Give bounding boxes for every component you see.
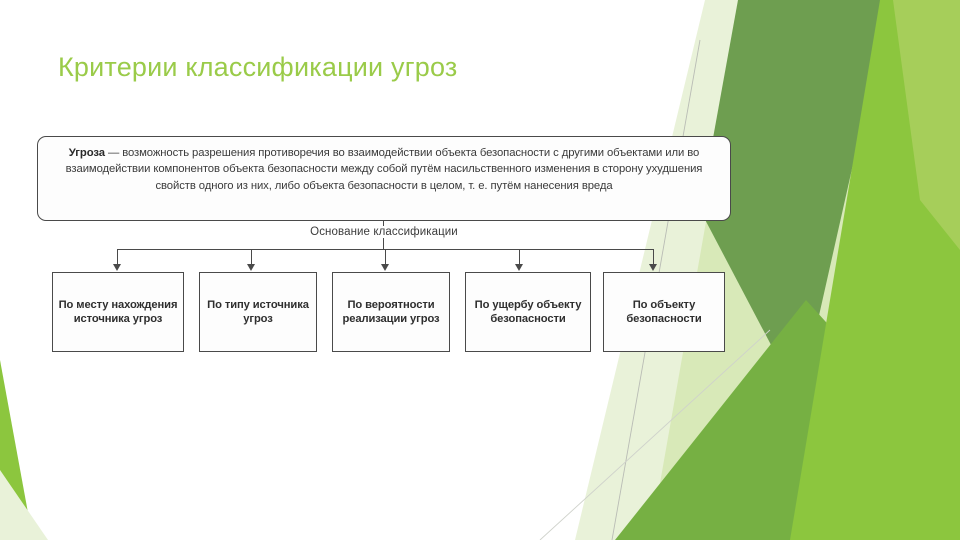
category-label-5: По объекту безопасности bbox=[604, 298, 724, 327]
page-title: Критерии классификации угроз bbox=[58, 52, 658, 83]
arrowhead-4 bbox=[515, 264, 523, 271]
basis-of-classification-label: Основание классификации bbox=[37, 226, 731, 238]
threat-definition-dash: — bbox=[105, 147, 122, 159]
arrowhead-2 bbox=[247, 264, 255, 271]
threat-definition-box: Угроза — возможность разрешения противор… bbox=[37, 136, 731, 221]
category-box-security-object: По объекту безопасности bbox=[603, 272, 725, 352]
threat-definition-text: Угроза — возможность разрешения противор… bbox=[50, 145, 718, 194]
threat-term: Угроза bbox=[69, 147, 105, 159]
category-label-4: По ущербу объекту безопасности bbox=[466, 298, 590, 327]
threat-definition-body: возможность разрешения противоречия во в… bbox=[66, 147, 703, 192]
category-box-location-of-threat-source: По месту нахождения источника угроз bbox=[52, 272, 184, 352]
category-label-3: По вероятности реализации угроз bbox=[333, 298, 449, 327]
category-box-type-of-threat-source: По типу источника угроз bbox=[199, 272, 317, 352]
slide-canvas: Критерии классификации угроз Угроза — во… bbox=[0, 0, 960, 540]
arrowhead-3 bbox=[381, 264, 389, 271]
category-label-2: По типу источника угроз bbox=[200, 298, 316, 327]
basis-of-classification-text: Основание классификации bbox=[307, 226, 461, 238]
category-box-probability-of-realization: По вероятности реализации угроз bbox=[332, 272, 450, 352]
threat-classification-diagram: Угроза — возможность разрешения противор… bbox=[37, 136, 737, 354]
arrowhead-5 bbox=[649, 264, 657, 271]
arrowhead-1 bbox=[113, 264, 121, 271]
category-label-1: По месту нахождения источника угроз bbox=[53, 298, 183, 327]
category-box-damage-to-security-object: По ущербу объекту безопасности bbox=[465, 272, 591, 352]
